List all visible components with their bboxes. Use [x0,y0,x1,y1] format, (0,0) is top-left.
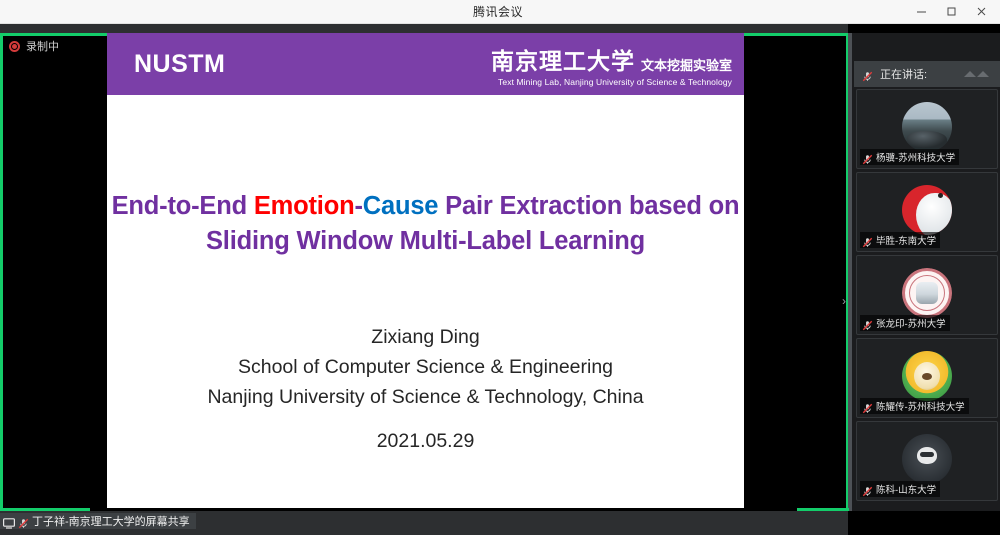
participant-tile[interactable]: 陈耀传-苏州科技大学 [856,338,998,418]
window-title: 腾讯会议 [90,3,906,20]
window-titlebar: 腾讯会议 [0,0,1000,24]
recording-label: 录制中 [26,38,59,54]
mic-muted-icon [862,484,873,495]
slide-body: End-to-End Emotion-Cause Pair Extraction… [107,95,744,511]
slide-header: NUSTM 南京理工大学 文本挖掘实验室 Text Mining Lab, Na… [107,33,744,95]
mic-muted-icon [862,235,873,246]
close-button[interactable] [966,0,996,24]
screen-share-label: 丁子祥-南京理工大学的屏幕共享 [32,513,190,529]
window-controls [906,0,996,24]
author-school: School of Computer Science & Engineering [107,353,744,383]
recording-indicator[interactable]: 录制中 [5,36,67,56]
speaking-now-label: 正在讲话: [880,66,927,82]
participant-tile[interactable]: 杨骥-苏州科技大学 [856,89,998,169]
mic-muted-icon [862,152,873,163]
participant-tile[interactable]: 陈科-山东大学 [856,421,998,501]
maximize-button[interactable] [936,0,966,24]
tencent-meeting-window: 腾讯会议 录制中 NUSTM [0,0,1000,535]
top-chrome-strip [0,24,848,33]
participant-name: 毕胜-东南大学 [876,233,936,247]
paper-title: End-to-End Emotion-Cause Pair Extraction… [107,189,744,258]
presentation-slide: NUSTM 南京理工大学 文本挖掘实验室 Text Mining Lab, Na… [107,33,744,511]
screen-share-icon [3,516,15,527]
title-part-dash: - [354,192,362,220]
presentation-date: 2021.05.29 [107,430,744,453]
sidebar-rail[interactable] [848,33,852,520]
title-part-cause: Cause [363,192,439,220]
avatar [902,351,952,401]
title-part-1: End-to-End [112,192,254,220]
avatar [902,434,952,484]
participant-name: 杨骥-苏州科技大学 [876,150,955,164]
screen-share-status[interactable]: 丁子祥-南京理工大学的屏幕共享 [0,513,196,529]
mic-muted-icon [862,401,873,412]
chevron-right-icon[interactable]: › [838,291,850,311]
lab-name-cn: 文本挖掘实验室 [641,55,732,76]
avatar [902,185,952,235]
avatar [902,102,952,152]
mic-muted-icon [18,516,29,527]
top-chrome-strip-right [848,24,1000,33]
title-part-emotion: Emotion [254,192,355,220]
author-block: Zixiang Ding School of Computer Science … [107,323,744,412]
participant-name: 陈耀传-苏州科技大学 [876,399,965,413]
speaking-now-bar: 正在讲话: [854,61,1000,87]
participant-name: 陈科-山东大学 [876,482,936,496]
participant-tile[interactable]: 张龙印-苏州大学 [856,255,998,335]
bottom-bar-right-filler [848,511,1000,535]
participant-name-chip: 张龙印-苏州大学 [860,315,950,331]
participant-name-chip: 杨骥-苏州科技大学 [860,149,959,165]
lab-name-en: Text Mining Lab, Nanjing University of S… [491,77,732,87]
meeting-body: 录制中 NUSTM 南京理工大学 文本挖掘实验室 Text Mining Lab… [0,24,1000,511]
record-icon [9,41,20,52]
nustm-logo: NUSTM [134,50,225,79]
participant-name-chip: 陈耀传-苏州科技大学 [860,398,969,414]
participant-tile[interactable]: 毕胜-东南大学 [856,172,998,252]
bottom-status-bar: 丁子祥-南京理工大学的屏幕共享 [0,511,848,535]
participant-name-chip: 毕胜-东南大学 [860,232,940,248]
participant-tile-list: 杨骥-苏州科技大学 毕胜-东南大学 [854,89,1000,504]
participant-name-chip: 陈科-山东大学 [860,481,940,497]
author-name: Zixiang Ding [107,323,744,353]
author-university: Nanjing University of Science & Technolo… [107,383,744,413]
minimize-button[interactable] [906,0,936,24]
participant-name: 张龙印-苏州大学 [876,316,946,330]
mic-muted-icon [862,318,873,329]
avatar [902,268,952,318]
participants-sidebar: › 正在讲话: [852,33,1000,520]
mic-muted-icon [862,69,873,80]
lab-logo: 南京理工大学 文本挖掘实验室 Text Mining Lab, Nanjing … [491,42,732,87]
university-name-cn: 南京理工大学 [491,42,635,76]
chevrons-up-icon[interactable] [962,68,992,80]
